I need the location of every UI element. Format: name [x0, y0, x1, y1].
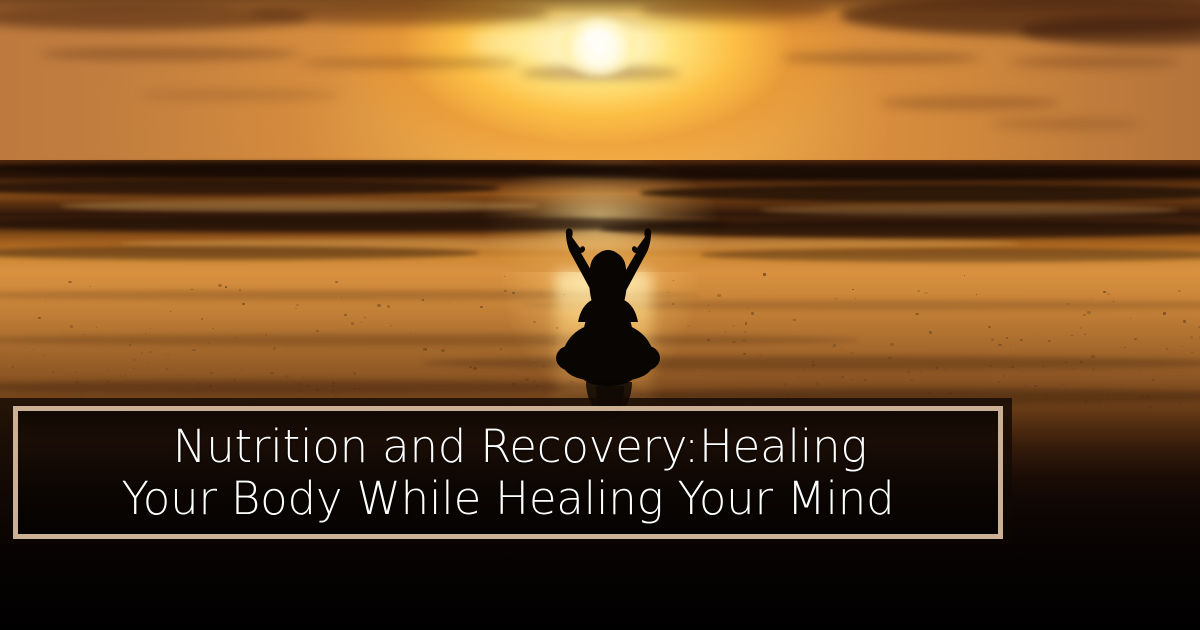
- sand-speck: [302, 376, 304, 377]
- sand-speck: [998, 381, 1000, 383]
- sand-speck: [1041, 394, 1043, 395]
- cloud-streak-icon: [250, 2, 550, 24]
- sand-speck: [1011, 354, 1013, 355]
- cloud-streak-icon: [880, 96, 1060, 110]
- sand-speck: [361, 322, 362, 323]
- sand-speck: [1178, 290, 1181, 292]
- sand-speck: [387, 305, 391, 308]
- sand-speck: [813, 389, 814, 390]
- wave-band: [520, 164, 1200, 180]
- sand-speck: [1037, 334, 1038, 335]
- sand-speck: [178, 375, 180, 376]
- sand-speck: [353, 372, 357, 375]
- sand-speck: [335, 375, 336, 376]
- sand-speck: [833, 344, 836, 347]
- cloud-streak-icon: [990, 118, 1140, 130]
- sand-speck: [732, 325, 735, 327]
- wave-band: [700, 248, 1200, 262]
- sand-speck: [1020, 339, 1023, 341]
- banner-title-line-1: Nutrition and Recovery:Healing: [173, 421, 867, 473]
- sand-speck: [390, 325, 393, 327]
- wave-band: [0, 180, 500, 196]
- sand-speck: [841, 348, 842, 349]
- sand-speck: [920, 371, 921, 372]
- sand-speck: [149, 328, 151, 330]
- sand-speck: [1044, 394, 1047, 396]
- sand-speck: [129, 344, 131, 346]
- sand-speck: [11, 366, 14, 368]
- sand-speck: [877, 383, 878, 384]
- sand-speck: [389, 323, 390, 324]
- sand-speck: [170, 311, 172, 312]
- sand-speck: [976, 294, 978, 295]
- sand-speck: [75, 372, 77, 374]
- sand-speck: [1166, 348, 1168, 350]
- sand-speck: [157, 349, 159, 350]
- sand-speck: [988, 326, 991, 328]
- title-banner-frame: Nutrition and Recovery:Healing Your Body…: [13, 406, 1003, 539]
- sand-speck: [1120, 347, 1121, 348]
- sand-speck: [480, 306, 484, 309]
- sand-speck: [1103, 291, 1106, 294]
- sand-speck: [798, 377, 800, 379]
- sand-speck: [52, 371, 55, 374]
- sand-speck: [917, 290, 920, 292]
- sand-speck: [225, 286, 227, 288]
- sand-speck: [63, 330, 64, 331]
- sand-speck: [915, 313, 918, 316]
- cloud-streak-icon: [640, 0, 830, 20]
- sand-speck: [929, 331, 932, 334]
- sand-speck: [167, 354, 169, 356]
- sand-speck: [218, 284, 222, 287]
- sand-speck: [948, 392, 951, 395]
- sand-speck: [273, 347, 277, 350]
- sand-speck: [82, 334, 84, 335]
- sand-speck: [907, 370, 911, 373]
- sand-speck: [1130, 318, 1132, 319]
- sand-speck: [851, 352, 854, 354]
- meditating-silhouette: [520, 218, 710, 418]
- sand-speck: [1087, 311, 1090, 314]
- sand-speck: [1139, 371, 1141, 373]
- sand-speck: [1061, 384, 1062, 385]
- sand-speck: [1080, 327, 1083, 329]
- sand-speck: [212, 328, 214, 330]
- sand-speck: [744, 331, 747, 334]
- sand-speck: [30, 356, 32, 357]
- sand-speck: [145, 333, 146, 334]
- sand-speck: [106, 369, 109, 371]
- sand-speck: [924, 292, 928, 295]
- sand-speck: [449, 302, 450, 303]
- sand-speck: [1134, 338, 1137, 340]
- sand-speck: [149, 351, 152, 353]
- sand-speck: [377, 304, 381, 307]
- cloud-streak-icon: [300, 58, 520, 68]
- sand-speck: [1091, 355, 1095, 358]
- sand-speck: [1030, 399, 1033, 401]
- sunset-sky: [0, 0, 1200, 168]
- sand-speck: [852, 289, 854, 290]
- sand-speck: [1083, 314, 1086, 316]
- sand-speck: [1107, 394, 1109, 396]
- sand-speck: [751, 312, 754, 315]
- sand-speck: [1179, 402, 1181, 404]
- sand-speck: [285, 375, 289, 378]
- sand-speck: [441, 349, 445, 352]
- sand-speck: [759, 354, 762, 357]
- sun-glint-icon: [584, 30, 610, 46]
- sand-speck: [295, 308, 297, 310]
- sand-speck: [296, 304, 299, 306]
- sand-speck: [1006, 337, 1009, 339]
- sand-speck: [89, 286, 91, 287]
- sand-speck: [1092, 368, 1095, 371]
- sand-speck: [1048, 340, 1051, 342]
- sand-speck: [1191, 352, 1193, 354]
- sand-speck: [410, 333, 411, 334]
- sand-speck: [935, 367, 938, 369]
- sand-speck: [998, 344, 1002, 347]
- sand-speck: [1097, 401, 1101, 404]
- sand-speck: [68, 281, 72, 284]
- sand-speck: [1178, 339, 1179, 340]
- sand-speck: [45, 301, 46, 302]
- sand-speck: [452, 395, 455, 397]
- sand-speck: [1023, 406, 1024, 407]
- sand-speck: [763, 273, 766, 275]
- sand-speck: [1060, 404, 1063, 406]
- sand-speck: [23, 347, 25, 348]
- sand-speck: [364, 317, 366, 318]
- sand-speck: [1025, 385, 1027, 387]
- sand-speck: [745, 322, 748, 324]
- sand-speck: [335, 281, 338, 283]
- sand-speck: [192, 349, 196, 352]
- sand-speck: [512, 383, 516, 386]
- sand-speck: [43, 355, 44, 356]
- sand-speck: [125, 375, 126, 376]
- sand-speck: [133, 359, 136, 361]
- sand-speck: [1010, 344, 1012, 345]
- sand-speck: [236, 337, 237, 338]
- sand-speck: [816, 382, 819, 385]
- sand-speck: [287, 351, 288, 352]
- sand-speck: [241, 369, 243, 370]
- sand-speck: [783, 383, 787, 386]
- sand-speck: [841, 376, 844, 378]
- sand-speck: [133, 368, 134, 369]
- sand-speck: [725, 331, 726, 332]
- sand-speck: [473, 367, 477, 370]
- sand-speck: [208, 343, 209, 344]
- sand-speck: [316, 330, 319, 332]
- sun-icon: [560, 18, 638, 76]
- sand-speck: [234, 373, 235, 374]
- sand-speck: [119, 374, 122, 377]
- sand-speck: [1044, 370, 1045, 371]
- sand-speck: [1148, 405, 1152, 408]
- sand-speck: [201, 318, 204, 320]
- sand-speck: [1152, 379, 1155, 381]
- sand-speck: [1146, 396, 1149, 398]
- sand-speck: [469, 366, 472, 369]
- sand-speck: [504, 276, 505, 277]
- cloud-streak-icon: [780, 52, 980, 64]
- sand-speck: [233, 378, 236, 380]
- title-banner: Nutrition and Recovery:Healing Your Body…: [0, 398, 1012, 544]
- sand-speck: [242, 303, 245, 305]
- sand-speck: [1182, 346, 1183, 347]
- sand-speck: [191, 289, 192, 290]
- sand-speck: [742, 339, 746, 342]
- sand-speck: [1024, 373, 1025, 374]
- sand-speck: [812, 364, 815, 366]
- cloud-streak-icon: [140, 90, 340, 100]
- sand-speck: [964, 352, 965, 353]
- sand-speck: [855, 298, 856, 299]
- sand-speck: [423, 348, 427, 351]
- sand-speck: [952, 393, 953, 394]
- sand-speck: [1147, 340, 1148, 341]
- sand-speck: [991, 338, 995, 341]
- sand-speck: [351, 322, 355, 325]
- sand-speck: [1034, 385, 1037, 387]
- sand-speck: [802, 369, 805, 371]
- sand-speck: [166, 368, 169, 370]
- sand-speck: [1071, 335, 1073, 336]
- sand-speck: [958, 376, 960, 377]
- sand-speck: [148, 361, 151, 363]
- sand-speck: [511, 353, 514, 355]
- banner-title-line-2: Your Body While Healing Your Mind: [122, 473, 895, 525]
- sand-speck: [964, 275, 965, 276]
- sand-speck: [96, 327, 97, 328]
- sand-speck: [270, 372, 274, 375]
- sand-speck: [910, 379, 913, 382]
- wave-band: [0, 246, 480, 260]
- sand-speck: [743, 353, 747, 356]
- sand-speck: [210, 372, 213, 374]
- sand-speck: [422, 299, 424, 300]
- wave-band: [640, 184, 1200, 202]
- sand-speck: [793, 319, 796, 321]
- sand-speck: [850, 379, 852, 381]
- sand-speck: [1183, 320, 1187, 323]
- sand-speck: [1084, 400, 1087, 402]
- sand-speck: [299, 383, 302, 385]
- sand-speck: [1107, 293, 1110, 295]
- cloud-streak-icon: [40, 48, 300, 60]
- sand-speck: [179, 390, 181, 391]
- sand-speck: [316, 388, 320, 391]
- sand-speck: [331, 390, 335, 393]
- cloud-streak-icon: [1020, 16, 1200, 46]
- sand-speck: [512, 375, 513, 376]
- sand-speck: [33, 349, 35, 351]
- sand-speck: [266, 365, 267, 366]
- sand-speck: [366, 393, 368, 394]
- sand-speck: [1091, 298, 1093, 299]
- sand-speck: [864, 379, 867, 381]
- sand-speck: [500, 348, 503, 350]
- sand-speck: [888, 357, 892, 360]
- sand-speck: [1190, 336, 1193, 338]
- sand-speck: [812, 361, 814, 363]
- sand-speck: [239, 289, 241, 290]
- wave-highlight: [60, 200, 540, 212]
- sand-speck: [963, 393, 965, 395]
- sand-speck: [38, 317, 41, 319]
- sand-speck: [717, 294, 721, 297]
- sand-speck: [3, 352, 4, 353]
- sand-speck: [947, 354, 949, 355]
- sand-speck: [747, 308, 748, 309]
- hero-banner-image: Nutrition and Recovery:Healing Your Body…: [0, 0, 1200, 630]
- sand-speck: [890, 343, 894, 346]
- sand-speck: [141, 352, 143, 354]
- sand-speck: [1003, 375, 1005, 377]
- cloud-streak-icon: [1010, 56, 1180, 68]
- sand-speck: [70, 325, 73, 328]
- sand-speck: [1084, 334, 1086, 336]
- sand-speck: [401, 361, 402, 362]
- sand-speck: [344, 314, 347, 317]
- sand-speck: [1124, 347, 1126, 349]
- sand-speck: [1163, 380, 1164, 381]
- sand-speck: [1163, 312, 1167, 315]
- sand-speck: [990, 365, 992, 366]
- wave-highlight: [760, 204, 1180, 216]
